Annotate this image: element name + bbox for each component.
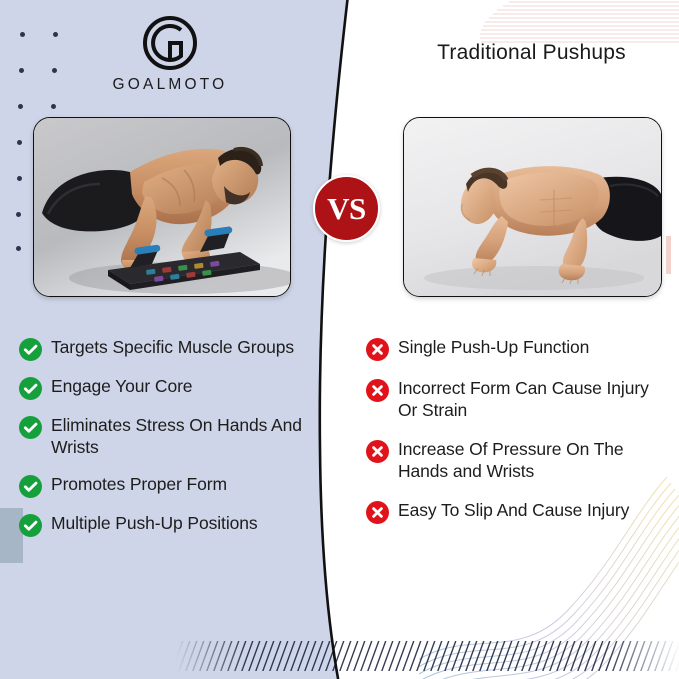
comparison-infographic: GOALMOTO [0, 0, 679, 679]
check-circle-icon [19, 475, 42, 498]
cons-list: Single Push-Up Function Incorrect Form C… [366, 336, 656, 540]
list-item-label: Engage Your Core [51, 375, 192, 397]
x-circle-icon [366, 501, 389, 524]
list-item-label: Promotes Proper Form [51, 473, 227, 495]
list-item: Eliminates Stress On Hands And Wrists [19, 414, 329, 459]
product-photo-card-left [33, 117, 291, 297]
list-item-label: Easy To Slip And Cause Injury [398, 499, 629, 521]
list-item: Increase Of Pressure On The Hands and Wr… [366, 438, 656, 483]
list-item-label: Increase Of Pressure On The Hands and Wr… [398, 438, 656, 483]
list-item: Single Push-Up Function [366, 336, 656, 361]
goalmoto-g-monogram-icon [141, 14, 199, 72]
list-item-label: Incorrect Form Can Cause Injury Or Strai… [398, 377, 656, 422]
check-circle-icon [19, 377, 42, 400]
diagonal-hatch-decoration [175, 641, 679, 671]
product-photo-card-right [403, 117, 662, 297]
check-circle-icon [19, 514, 42, 537]
vs-badge: VS [313, 175, 380, 242]
pros-list: Targets Specific Muscle Groups Engage Yo… [19, 336, 329, 551]
x-circle-icon [366, 338, 389, 361]
pink-accent-bar [666, 236, 671, 274]
vs-badge-label: VS [327, 193, 366, 224]
brand-name: GOALMOTO [0, 76, 340, 94]
list-item: Multiple Push-Up Positions [19, 512, 329, 537]
list-item: Incorrect Form Can Cause Injury Or Strai… [366, 377, 656, 422]
pushup-board-photo [34, 118, 290, 296]
list-item: Targets Specific Muscle Groups [19, 336, 329, 361]
x-circle-icon [366, 379, 389, 402]
list-item-label: Single Push-Up Function [398, 336, 589, 358]
x-circle-icon [366, 440, 389, 463]
brand-logo: GOALMOTO [0, 14, 340, 94]
right-panel-title: Traditional Pushups [403, 40, 660, 67]
list-item: Promotes Proper Form [19, 473, 329, 498]
list-item-label: Targets Specific Muscle Groups [51, 336, 294, 358]
check-circle-icon [19, 338, 42, 361]
list-item-label: Multiple Push-Up Positions [51, 512, 258, 534]
traditional-pushup-photo [404, 118, 661, 296]
check-circle-icon [19, 416, 42, 439]
list-item-label: Eliminates Stress On Hands And Wrists [51, 414, 329, 459]
list-item: Engage Your Core [19, 375, 329, 400]
stripe-pattern-top-right [467, 0, 679, 45]
list-item: Easy To Slip And Cause Injury [366, 499, 656, 524]
